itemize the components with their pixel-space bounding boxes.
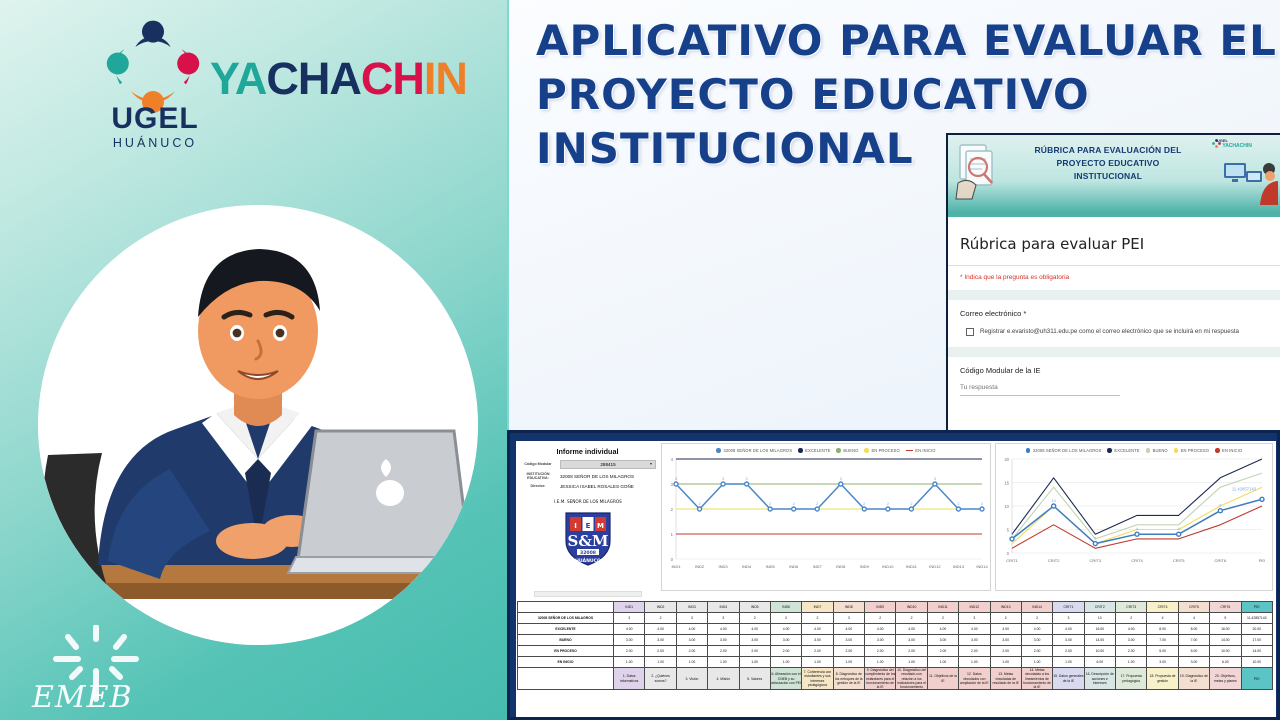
table-cell: 1.00 bbox=[770, 657, 801, 668]
table-cell: 1.00 bbox=[645, 657, 676, 668]
table-column-header: CRIT2 bbox=[1084, 602, 1115, 613]
table-column-header: CRIT6 bbox=[1210, 602, 1241, 613]
svg-text:3: 3 bbox=[675, 477, 677, 481]
svg-text:2: 2 bbox=[957, 502, 959, 506]
svg-text:15: 15 bbox=[1004, 481, 1009, 486]
svg-text:IND10: IND10 bbox=[882, 564, 894, 569]
svg-text:IND2: IND2 bbox=[695, 564, 705, 569]
svg-text:2: 2 bbox=[769, 502, 771, 506]
table-cell: 2.00 bbox=[927, 646, 958, 657]
svg-text:3: 3 bbox=[840, 477, 842, 481]
table-description-cell: 7. Coherencia con estudiantes y sus inte… bbox=[802, 668, 833, 690]
svg-text:IND1: IND1 bbox=[671, 564, 681, 569]
dashboard-top-row: Informe individual Código Modular 288415… bbox=[516, 441, 1276, 599]
table-description-cell: 20. Objetivos, metas y planes bbox=[1210, 668, 1241, 690]
svg-text:PEI: PEI bbox=[1259, 558, 1265, 563]
table-cell: 2 bbox=[927, 613, 958, 624]
table-cell: 2 bbox=[802, 613, 833, 624]
table-cell: 1.00 bbox=[1021, 657, 1052, 668]
svg-text:3: 3 bbox=[934, 477, 936, 481]
svg-text:3: 3 bbox=[746, 477, 748, 481]
table-row-label: EXCELENTE bbox=[518, 624, 614, 635]
table-column-header: CRIT1 bbox=[1053, 602, 1084, 613]
table-cell: 1.00 bbox=[1053, 657, 1084, 668]
svg-text:4: 4 bbox=[1178, 527, 1180, 531]
svg-text:1: 1 bbox=[671, 532, 674, 537]
table-column-header: IND13 bbox=[990, 602, 1021, 613]
table-cell: 9 bbox=[1210, 613, 1241, 624]
table-column-header: PEI bbox=[1241, 602, 1273, 613]
svg-text:32008: 32008 bbox=[580, 550, 596, 556]
svg-text:IND4: IND4 bbox=[742, 564, 752, 569]
table-cell: 4.00 bbox=[1116, 624, 1147, 635]
svg-text:CRIT2: CRIT2 bbox=[1048, 558, 1060, 563]
table-column-header: IND6 bbox=[770, 602, 801, 613]
table-cell: 3.00 bbox=[833, 635, 864, 646]
table-cell: 3.00 bbox=[896, 635, 927, 646]
table-cell: 1.00 bbox=[959, 657, 990, 668]
person-monitors-icon bbox=[1222, 151, 1278, 207]
table-cell: 4.00 bbox=[865, 624, 896, 635]
table-cell: 11.42857143 bbox=[1241, 613, 1273, 624]
chart1-legend: 32008 SEÑOR DE LOS MILAGROS EXCELENTE BU… bbox=[662, 444, 990, 453]
report-title: Informe individual bbox=[519, 447, 656, 456]
left-panel: UGEL HUÁNUCO YACHACHIN bbox=[0, 0, 507, 720]
table-column-header: CRIT5 bbox=[1178, 602, 1209, 613]
table-cell: 1.00 bbox=[896, 657, 927, 668]
table-cell: 4.00 bbox=[1021, 624, 1052, 635]
table-description-cell: 19. Diagnóstico de la IE bbox=[1178, 668, 1209, 690]
table-cell: 3 bbox=[833, 613, 864, 624]
form-banner-line-3: INSTITUCIONAL bbox=[1008, 170, 1208, 183]
table-description-cell: 11. Objetivos de la IE bbox=[927, 668, 958, 690]
svg-text:IND8: IND8 bbox=[836, 564, 846, 569]
table-column-header: IND4 bbox=[708, 602, 739, 613]
director-row: Director: JESSICA ISABEL ROSALES GOÑE bbox=[519, 484, 656, 489]
table-cell: 2.00 bbox=[708, 646, 739, 657]
table-description-cell: 18. Propuesta de gestión bbox=[1147, 668, 1178, 690]
table-description-cell: 17. Propuesta pedagógica bbox=[1116, 668, 1147, 690]
svg-text:E: E bbox=[586, 522, 591, 530]
table-description-row: 1. Datos informativos2. ¿Quiénes somos?3… bbox=[518, 668, 1273, 690]
svg-text:IND9: IND9 bbox=[860, 564, 870, 569]
table-cell: 2.00 bbox=[614, 646, 645, 657]
svg-text:IND3: IND3 bbox=[719, 564, 729, 569]
table-corner-cell bbox=[518, 602, 614, 613]
google-form-screenshot[interactable]: RÚBRICA PARA EVALUACIÓN DEL PROYECTO EDU… bbox=[946, 133, 1280, 433]
data-table: IND1IND2IND3IND4IND5IND6IND7IND8IND9IND1… bbox=[517, 601, 1273, 690]
table-description-cell: 6. Alineación con el CNEB y su articulac… bbox=[770, 668, 801, 690]
table-cell: 3.00 bbox=[1021, 635, 1052, 646]
form-banner: RÚBRICA PARA EVALUACIÓN DEL PROYECTO EDU… bbox=[948, 135, 1280, 211]
table-cell: 3.00 bbox=[1053, 635, 1084, 646]
svg-text:11.42857143: 11.42857143 bbox=[1232, 486, 1257, 491]
table-row: EN PROCESO2.002.002.002.002.002.002.002.… bbox=[518, 646, 1273, 657]
table-cell: 17.00 bbox=[1241, 635, 1273, 646]
form-banner-line-2: PROYECTO EDUCATIVO bbox=[1008, 157, 1208, 170]
svg-text:CRIT4: CRIT4 bbox=[1131, 558, 1143, 563]
form-logo-text: YACHACHIN bbox=[1222, 143, 1252, 149]
table-row: BUENO3.003.003.003.003.003.003.003.003.0… bbox=[518, 635, 1273, 646]
ugel-wordmark: UGEL HUÁNUCO bbox=[90, 104, 220, 150]
table-cell: 2 bbox=[896, 613, 927, 624]
table-cell: 6.00 bbox=[1210, 657, 1241, 668]
svg-text:3: 3 bbox=[1011, 532, 1013, 536]
chart1-plot: 01234IND1IND2IND3IND4IND5IND6IND7IND8IND… bbox=[662, 453, 988, 575]
institucion-value: 32008 SEÑOR DE LOS MILAGROS bbox=[560, 474, 656, 479]
table-column-header: IND7 bbox=[802, 602, 833, 613]
table-cell: 4.00 bbox=[645, 624, 676, 635]
svg-text:2: 2 bbox=[887, 502, 889, 506]
table-row: EN INICIO1.001.001.001.001.001.001.001.0… bbox=[518, 657, 1273, 668]
table-cell: 14.00 bbox=[1084, 635, 1115, 646]
table-cell: 4 bbox=[1147, 613, 1178, 624]
table-cell: 2.00 bbox=[1053, 646, 1084, 657]
table-description-cell: 2. ¿Quiénes somos? bbox=[645, 668, 676, 690]
codigo-modular-label: Código Modular bbox=[519, 462, 557, 466]
table-row-label: BUENO bbox=[518, 635, 614, 646]
table-cell: 4.00 bbox=[676, 624, 707, 635]
svg-text:2: 2 bbox=[863, 502, 865, 506]
table-cell: 7.00 bbox=[1178, 635, 1209, 646]
table-cell: 1.00 bbox=[927, 657, 958, 668]
table-cell: 3.00 bbox=[865, 635, 896, 646]
table-cell: 16.00 bbox=[1084, 624, 1115, 635]
table-cell: 3 bbox=[1053, 613, 1084, 624]
table-cell: 3.00 bbox=[614, 635, 645, 646]
table-cell: 2.00 bbox=[802, 646, 833, 657]
form-banner-title: RÚBRICA PARA EVALUACIÓN DEL PROYECTO EDU… bbox=[1008, 144, 1208, 184]
table-column-header: IND3 bbox=[676, 602, 707, 613]
table-cell: 1.00 bbox=[739, 657, 770, 668]
svg-text:CRIT5: CRIT5 bbox=[1173, 558, 1185, 563]
form-required-note: * Indica que la pregunta es obligatoria bbox=[960, 274, 1268, 281]
table-cell: 1.00 bbox=[708, 657, 739, 668]
svg-text:S&M: S&M bbox=[568, 532, 609, 550]
ugel-people-circle-icon-small bbox=[1212, 139, 1221, 148]
codigo-modular-label: Código Modular de la IE bbox=[960, 366, 1268, 375]
table-cell: 3.00 bbox=[927, 635, 958, 646]
slide-canvas: UGEL HUÁNUCO YACHACHIN bbox=[0, 0, 1280, 720]
codigo-modular-underline bbox=[960, 395, 1120, 396]
table-cell: 14.00 bbox=[1210, 635, 1241, 646]
table-header-row: IND1IND2IND3IND4IND5IND6IND7IND8IND9IND1… bbox=[518, 602, 1273, 613]
table-cell: 3.00 bbox=[1116, 635, 1147, 646]
table-cell: 2.00 bbox=[770, 646, 801, 657]
table-cell: 2 bbox=[1021, 613, 1052, 624]
table-cell: 2.00 bbox=[896, 646, 927, 657]
table-cell: 5.00 bbox=[1178, 646, 1209, 657]
table-cell: 2 bbox=[990, 613, 1021, 624]
form-banner-line-1: RÚBRICA PARA EVALUACIÓN DEL bbox=[1008, 144, 1208, 157]
table-cell: 5.00 bbox=[1147, 646, 1178, 657]
table-cell: 6.00 bbox=[1084, 657, 1115, 668]
table-column-header: IND9 bbox=[865, 602, 896, 613]
table-cell: 4.00 bbox=[739, 624, 770, 635]
yachachin-wordmark: YACHACHIN bbox=[210, 56, 467, 101]
table-description-cell: 5. Valores bbox=[739, 668, 770, 690]
table-cell: 2 bbox=[645, 613, 676, 624]
director-value: JESSICA ISABEL ROSALES GOÑE bbox=[560, 484, 656, 489]
table-cell: 3.00 bbox=[1178, 657, 1209, 668]
table-cell: 2.00 bbox=[1116, 646, 1147, 657]
svg-text:IND6: IND6 bbox=[789, 564, 799, 569]
svg-text:2: 2 bbox=[698, 502, 700, 506]
table-column-header: IND11 bbox=[927, 602, 958, 613]
email-checkbox-row[interactable]: Registrar e.evaristo@uh311.edu.pe como e… bbox=[960, 327, 1268, 337]
table-cell: 2 bbox=[865, 613, 896, 624]
businessman-laptop-illustration bbox=[38, 205, 478, 645]
email-label: Correo electrónico * bbox=[960, 309, 1268, 318]
table-description-cell: 4. Misión bbox=[708, 668, 739, 690]
table-cell: 1.00 bbox=[802, 657, 833, 668]
table-row: 32008 SEÑOR DE LOS MILAGROS3233222322232… bbox=[518, 613, 1273, 624]
svg-text:3: 3 bbox=[722, 477, 724, 481]
table-cell: 3.00 bbox=[739, 635, 770, 646]
svg-text:CRIT3: CRIT3 bbox=[1090, 558, 1102, 563]
table-cell: 7.00 bbox=[1147, 635, 1178, 646]
table-column-header: IND14 bbox=[1021, 602, 1052, 613]
svg-text:CRIT6: CRIT6 bbox=[1215, 558, 1227, 563]
title-line-2: PROYECTO EDUCATIVO bbox=[536, 68, 1256, 122]
table-cell: 14.00 bbox=[1241, 646, 1273, 657]
svg-text:I.E.M. SEÑOR DE LOS MILAGROS: I.E.M. SEÑOR DE LOS MILAGROS bbox=[554, 499, 622, 504]
table-cell: 2 bbox=[739, 613, 770, 624]
table-description-cell: 8. Diagnóstico de los enfoques de la ges… bbox=[833, 668, 864, 690]
svg-text:IND14: IND14 bbox=[976, 564, 988, 569]
table-description-cell: 3. Visión bbox=[676, 668, 707, 690]
table-cell: 3 bbox=[614, 613, 645, 624]
table-column-header: CRIT3 bbox=[1116, 602, 1147, 613]
table-cell: 3.00 bbox=[645, 635, 676, 646]
form-heading: Rúbrica para evaluar PEI bbox=[960, 235, 1268, 253]
table-cell: 2.00 bbox=[959, 646, 990, 657]
table-cell: 2 bbox=[770, 613, 801, 624]
svg-text:10: 10 bbox=[1052, 499, 1056, 503]
table-cell: 4.00 bbox=[833, 624, 864, 635]
form-divider bbox=[948, 265, 1280, 266]
table-cell: 1.00 bbox=[614, 657, 645, 668]
codigo-modular-row: Código Modular 288415 bbox=[519, 460, 656, 469]
table-description-cell: 15. Datos generales de la IE bbox=[1053, 668, 1084, 690]
form-body: Rúbrica para evaluar PEI * Indica que la… bbox=[948, 217, 1280, 396]
table-column-header: IND5 bbox=[739, 602, 770, 613]
table-cell: 3 bbox=[676, 613, 707, 624]
svg-text:IND11: IND11 bbox=[906, 564, 918, 569]
table-description-cell: 13. Metas vinculadas de resultado de la … bbox=[990, 668, 1021, 690]
ugel-subtitle: HUÁNUCO bbox=[90, 136, 220, 150]
table-cell: 3.00 bbox=[676, 635, 707, 646]
svg-text:2: 2 bbox=[910, 502, 912, 506]
table-cell: 3.00 bbox=[1147, 657, 1178, 668]
chart-indicadores[interactable]: 32008 SEÑOR DE LOS MILAGROS EXCELENTE BU… bbox=[661, 443, 991, 591]
table-cell: 10.00 bbox=[1241, 657, 1273, 668]
svg-text:2: 2 bbox=[793, 502, 795, 506]
yachachin-cha: CHA bbox=[266, 53, 361, 104]
table-row-label: EN PROCESO bbox=[518, 646, 614, 657]
table-cell: 4.00 bbox=[927, 624, 958, 635]
table-cell: 4.00 bbox=[802, 624, 833, 635]
dashboard-sheet: Informe individual Código Modular 288415… bbox=[516, 441, 1276, 717]
table-cell: 2 bbox=[1116, 613, 1147, 624]
table-cell: 1.00 bbox=[833, 657, 864, 668]
table-column-header: IND2 bbox=[645, 602, 676, 613]
table-description-cell: 12. Datos vinculados con ampliación de l… bbox=[959, 668, 990, 690]
table-cell: 3.00 bbox=[959, 635, 990, 646]
table-cell: 1.00 bbox=[1116, 657, 1147, 668]
form-section-band-1 bbox=[948, 290, 1280, 300]
yachachin-ya: YA bbox=[210, 53, 266, 104]
table-cell: 2.00 bbox=[833, 646, 864, 657]
table-cell: 3.00 bbox=[770, 635, 801, 646]
chart2-legend: 32008 SEÑOR DE LOS MILAGROS EXCELENTE BU… bbox=[996, 444, 1272, 453]
yachachin-in: IN bbox=[424, 53, 467, 104]
table-cell: 4.00 bbox=[959, 624, 990, 635]
data-table-wrap[interactable]: IND1IND2IND3IND4IND5IND6IND7IND8IND9IND1… bbox=[516, 599, 1276, 717]
table-cell: 2.00 bbox=[739, 646, 770, 657]
svg-text:4: 4 bbox=[1136, 527, 1138, 531]
svg-text:0: 0 bbox=[1007, 551, 1010, 556]
table-cell: 4.00 bbox=[708, 624, 739, 635]
legend-line-icon bbox=[906, 450, 913, 452]
codigo-modular-input[interactable]: Tu respuesta bbox=[960, 384, 1268, 391]
svg-text:9: 9 bbox=[1219, 504, 1221, 508]
table-description-cell: 9. Diagnóstico del cumplimiento de los e… bbox=[865, 668, 896, 690]
svg-text:2: 2 bbox=[1094, 537, 1096, 541]
table-cell: 4.00 bbox=[770, 624, 801, 635]
institucion-label: INSTITUCIÓN EDUCATIVA: bbox=[519, 472, 557, 481]
svg-text:CRIT1: CRIT1 bbox=[1006, 558, 1018, 563]
svg-text:2: 2 bbox=[671, 507, 674, 512]
svg-text:2: 2 bbox=[981, 502, 983, 506]
table-cell: 4 bbox=[1178, 613, 1209, 624]
table-cell: 2.00 bbox=[645, 646, 676, 657]
institucion-row: INSTITUCIÓN EDUCATIVA: 32008 SEÑOR DE LO… bbox=[519, 472, 656, 481]
table-cell: 4.00 bbox=[614, 624, 645, 635]
table-cell: 8.00 bbox=[1178, 624, 1209, 635]
email-checkbox[interactable] bbox=[966, 328, 974, 336]
table-cell: 16.00 bbox=[1210, 624, 1241, 635]
ugel-word: UGEL bbox=[90, 104, 220, 134]
table-cell: 8.00 bbox=[1147, 624, 1178, 635]
table-cell: 1.00 bbox=[676, 657, 707, 668]
table-column-header: IND8 bbox=[833, 602, 864, 613]
title-line-1: APLICATIVO PARA EVALUAR EL bbox=[536, 14, 1256, 68]
table-cell: 2.00 bbox=[990, 646, 1021, 657]
individual-report-panel: Informe individual Código Modular 288415… bbox=[516, 441, 659, 599]
table-cell: 10.00 bbox=[1084, 646, 1115, 657]
table-column-header: IND1 bbox=[614, 602, 645, 613]
table-description-cell: 1. Datos informativos bbox=[614, 668, 645, 690]
table-column-header: CRIT4 bbox=[1147, 602, 1178, 613]
table-cell: 3 bbox=[708, 613, 739, 624]
table-cell: 3.00 bbox=[990, 635, 1021, 646]
table-column-header: IND10 bbox=[896, 602, 927, 613]
table-cell: 10.00 bbox=[1210, 646, 1241, 657]
svg-text:0: 0 bbox=[671, 557, 674, 562]
emeb-watermark: EMEB bbox=[22, 625, 172, 717]
footer-credit: Elaborado por el Dr. Eugenio Marlon Evar… bbox=[510, 708, 1280, 716]
chart-criterios[interactable]: 32008 SEÑOR DE LOS MILAGROS EXCELENTE BU… bbox=[995, 443, 1273, 591]
table-description-cell: 14. Metas vinculadas a los lineamientos … bbox=[1021, 668, 1052, 690]
svg-text:I: I bbox=[574, 522, 577, 530]
director-label: Director: bbox=[519, 484, 557, 488]
codigo-modular-select[interactable]: 288415 bbox=[560, 460, 656, 469]
svg-text:IND12: IND12 bbox=[929, 564, 941, 569]
report-bottom-bar bbox=[534, 591, 642, 597]
yachachin-ch: CH bbox=[361, 53, 424, 104]
svg-text:5: 5 bbox=[1007, 528, 1010, 533]
svg-text:IND5: IND5 bbox=[766, 564, 776, 569]
table-cell: 20.00 bbox=[1241, 624, 1273, 635]
table-cell: 10 bbox=[1084, 613, 1115, 624]
svg-text:M: M bbox=[597, 522, 604, 530]
emeb-label: EMEB bbox=[32, 680, 133, 715]
email-checkbox-label: Registrar e.evaristo@uh311.edu.pe como e… bbox=[980, 327, 1239, 337]
table-cell: 4.00 bbox=[1053, 624, 1084, 635]
svg-text:2: 2 bbox=[816, 502, 818, 506]
table-cell: 2.00 bbox=[676, 646, 707, 657]
svg-text:IND13: IND13 bbox=[953, 564, 965, 569]
table-column-header: IND12 bbox=[959, 602, 990, 613]
table-description-cell: 10. Diagnóstico del resultado con relaci… bbox=[896, 668, 927, 690]
table-description-corner bbox=[518, 668, 614, 690]
svg-text:3: 3 bbox=[671, 482, 674, 487]
dashboard-screenshot[interactable]: Informe individual Código Modular 288415… bbox=[507, 430, 1280, 720]
document-magnifier-icon bbox=[952, 139, 1008, 203]
svg-text:IND7: IND7 bbox=[813, 564, 823, 569]
table-cell: 1.00 bbox=[990, 657, 1021, 668]
table-cell: 3.00 bbox=[802, 635, 833, 646]
table-cell: 2.00 bbox=[1021, 646, 1052, 657]
table-description-cell: PEI bbox=[1241, 668, 1273, 690]
table-cell: 4.00 bbox=[896, 624, 927, 635]
table-cell: 4.00 bbox=[990, 624, 1021, 635]
table-cell: 2.00 bbox=[865, 646, 896, 657]
table-cell: 3.00 bbox=[708, 635, 739, 646]
table-row-label: 32008 SEÑOR DE LOS MILAGROS bbox=[518, 613, 614, 624]
table-row-label: EN INICIO bbox=[518, 657, 614, 668]
table-description-cell: 16. Descripción de acciones e intereses bbox=[1084, 668, 1115, 690]
svg-text:4: 4 bbox=[671, 457, 674, 462]
svg-text:10: 10 bbox=[1004, 504, 1009, 509]
school-crest-logo: I.E.M. SEÑOR DE LOS MILAGROS I E M S&M 3… bbox=[548, 493, 628, 571]
table-row: EXCELENTE4.004.004.004.004.004.004.004.0… bbox=[518, 624, 1273, 635]
chart2-plot: 05101520CRIT1CRIT2CRIT3CRIT4CRIT5CRIT6PE… bbox=[996, 453, 1268, 569]
svg-text:HUÁNUCO: HUÁNUCO bbox=[575, 557, 601, 564]
ugel-yachachin-logo: UGEL HUÁNUCO YACHACHIN bbox=[78, 12, 448, 152]
form-section-band-2 bbox=[948, 347, 1280, 357]
table-cell: 3 bbox=[959, 613, 990, 624]
svg-text:20: 20 bbox=[1004, 457, 1009, 462]
table-cell: 1.00 bbox=[865, 657, 896, 668]
